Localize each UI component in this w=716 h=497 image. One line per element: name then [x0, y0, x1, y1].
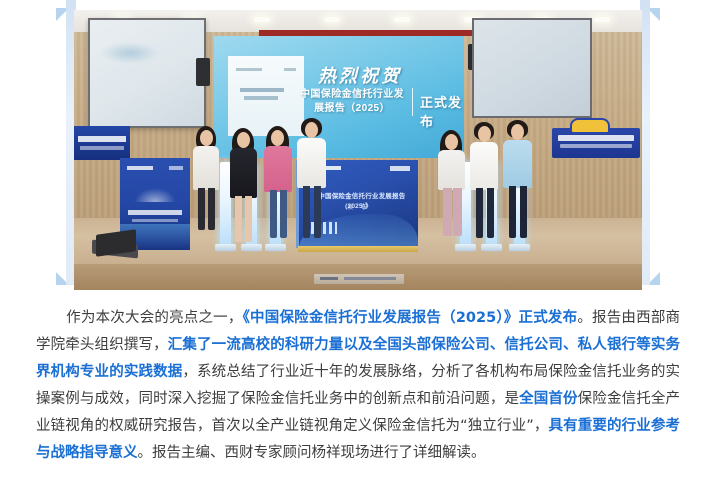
- side-banner-left: [74, 126, 130, 160]
- article-paragraph: 作为本次大会的亮点之一，《中国保险金信托行业发展报告（2025）》正式发布。报告…: [36, 305, 680, 467]
- segment-1-highlight: 《中国保险金信托行业发展报告（2025）》正式发布: [243, 310, 578, 326]
- banner-logo-icon: [570, 118, 610, 134]
- led-headline: 热烈祝贺: [318, 62, 402, 88]
- led-divider: [412, 88, 413, 116]
- light-column-base: [265, 244, 286, 251]
- light-column-base: [509, 244, 530, 251]
- board-base: [298, 246, 418, 252]
- led-report-cover-graphic: [228, 56, 304, 136]
- side-banner-right: [552, 128, 640, 158]
- floor-signage: [314, 274, 404, 284]
- light-column-base: [215, 244, 236, 251]
- segment-5-highlight: 全国首份: [519, 391, 578, 407]
- segment-0: 作为本次大会的亮点之一，: [66, 310, 243, 326]
- projection-screen-left: [88, 18, 206, 128]
- light-column-base: [481, 244, 502, 251]
- light-column-base: [241, 244, 262, 251]
- event-photo: 热烈祝贺 中国保险金信托行业发展报告（2025） 正式发布: [74, 10, 642, 290]
- article-page: 热烈祝贺 中国保险金信托行业发展报告（2025） 正式发布: [0, 0, 716, 497]
- light-column-base: [455, 244, 476, 251]
- projection-screen-right: [472, 18, 592, 118]
- led-report-title: 中国保险金信托行业发展报告（2025）: [296, 88, 408, 116]
- segment-8: 。报告主编、西财专家顾问杨祥现场进行了详细解读。: [138, 445, 486, 461]
- event-photo-scene: 热烈祝贺 中国保险金信托行业发展报告（2025） 正式发布: [74, 10, 642, 290]
- led-release-label: 正式发布: [420, 92, 464, 130]
- wall-speaker-left-icon: [196, 58, 210, 86]
